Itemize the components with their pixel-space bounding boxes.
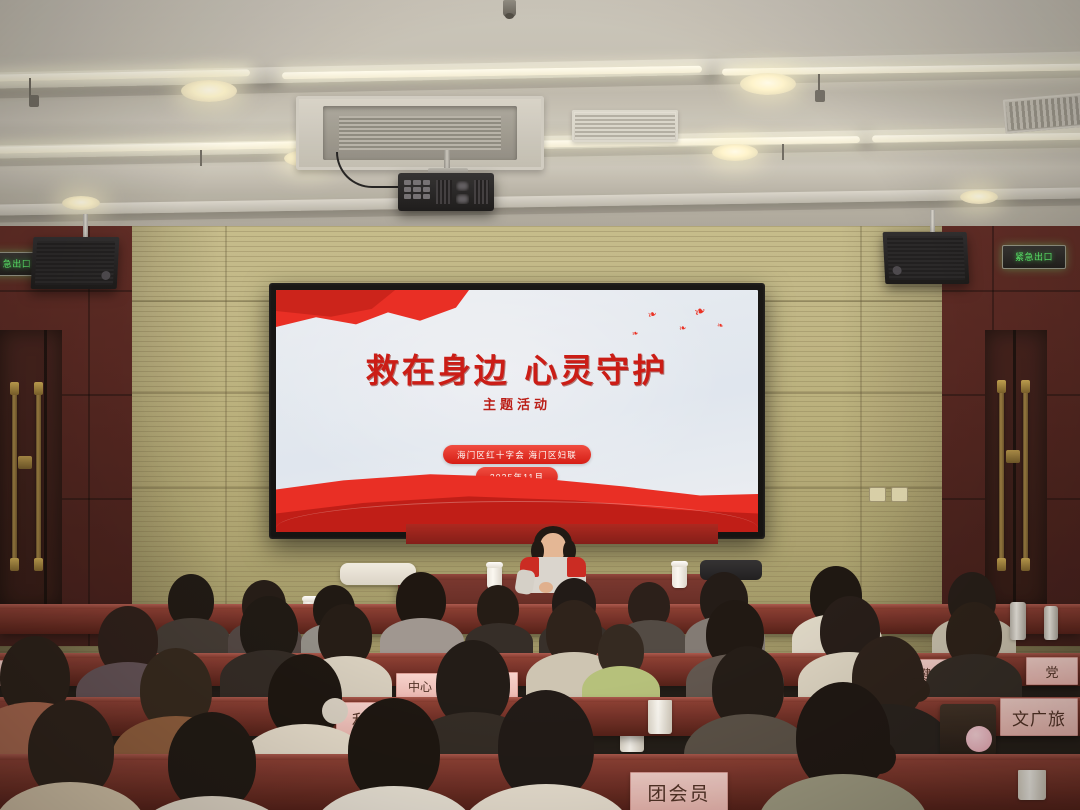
exit-sign-left-label: 急出口 — [3, 260, 32, 269]
presenter — [508, 526, 600, 588]
wall-speaker-right — [883, 232, 970, 284]
ceiling-downlight — [181, 80, 237, 102]
table-nameplate: 文广旅 — [1000, 698, 1078, 736]
ceiling-air-vent — [572, 110, 678, 142]
slide-canvas: ❧ ❧ ❧ ❧ ❧ 救在身边 心灵守护 主题活动 海门区红十字会 海门区妇联 2… — [276, 290, 758, 532]
teacup-lid — [486, 562, 503, 568]
wall-speaker-left — [31, 237, 120, 289]
presenter-hand — [539, 582, 553, 593]
bird-icon: ❧ — [717, 322, 725, 331]
door-handle-cap — [997, 380, 1006, 393]
slide-title: 救在身边 心灵守护 — [276, 344, 758, 392]
projector-vent — [436, 180, 452, 204]
thermos-bottle — [1010, 602, 1026, 640]
paper-cup — [1018, 770, 1046, 800]
light-hanger — [200, 150, 202, 166]
bag-pompom — [966, 726, 992, 752]
table-nameplate: 党 — [1026, 657, 1078, 685]
door-lock-icon[interactable] — [1006, 450, 1020, 463]
door-handle[interactable] — [36, 390, 41, 560]
door-lock-icon[interactable] — [18, 456, 32, 469]
projector-lens — [456, 181, 469, 191]
wall-outlet-plate — [869, 487, 886, 502]
presenter-jacket-red-panel — [567, 557, 586, 577]
teacup — [672, 566, 687, 588]
projector-keypad — [404, 180, 430, 199]
ceiling-downlight — [960, 190, 998, 204]
ceiling-ac-unit — [296, 96, 544, 170]
ceiling-downlight — [740, 73, 796, 95]
right-door[interactable] — [985, 330, 1047, 610]
ceiling-air-vent — [1003, 92, 1080, 133]
door-handle-cap — [997, 558, 1006, 571]
smoke-detector-icon — [29, 95, 39, 107]
ceiling-projector — [398, 173, 494, 211]
projector-vent — [474, 180, 489, 204]
door-handle[interactable] — [1023, 388, 1028, 560]
table-nameplate: 团会员 — [630, 772, 728, 810]
wall-outlet-plate — [891, 487, 908, 502]
exit-sign-right-label: 紧急出口 — [1015, 253, 1053, 262]
bird-icon: ❧ — [631, 329, 639, 338]
light-hanger — [782, 144, 784, 160]
smoke-detector-icon — [815, 90, 825, 102]
desk-edge — [0, 604, 1080, 609]
projector-lens — [456, 194, 469, 204]
paper-cup — [648, 700, 672, 734]
led-display-screen[interactable]: ❧ ❧ ❧ ❧ ❧ 救在身边 心灵守护 主题活动 海门区红十字会 海门区妇联 2… — [269, 283, 765, 539]
left-door[interactable] — [0, 330, 62, 610]
ceiling-downlight — [712, 144, 758, 161]
door-handle-cap — [10, 382, 19, 395]
thermos-bottle — [1044, 606, 1058, 640]
slide-subtitle: 主题活动 — [276, 394, 758, 413]
door-handle-cap — [34, 382, 43, 395]
door-handle[interactable] — [12, 390, 17, 560]
door-handle-cap — [1021, 380, 1030, 393]
bird-icon: ❧ — [678, 324, 687, 334]
conference-hall-photo: 急出口 紧急出口 ❧ ❧ ❧ ❧ ❧ 救在身边 心灵守护 主题活动 海门区红十字… — [0, 0, 1080, 810]
door-handle-cap — [1021, 558, 1030, 571]
door-handle-cap — [10, 558, 19, 571]
sprinkler-head-icon — [503, 0, 516, 17]
slide-organizer-badge: 海门区红十字会 海门区妇联 — [443, 445, 591, 464]
exit-sign-right: 紧急出口 — [1002, 245, 1066, 269]
door-handle-cap — [34, 558, 43, 571]
ceiling-downlight — [62, 196, 100, 210]
door-handle[interactable] — [999, 388, 1004, 560]
speaker-bracket — [930, 210, 935, 234]
teacup-lid — [671, 561, 688, 567]
